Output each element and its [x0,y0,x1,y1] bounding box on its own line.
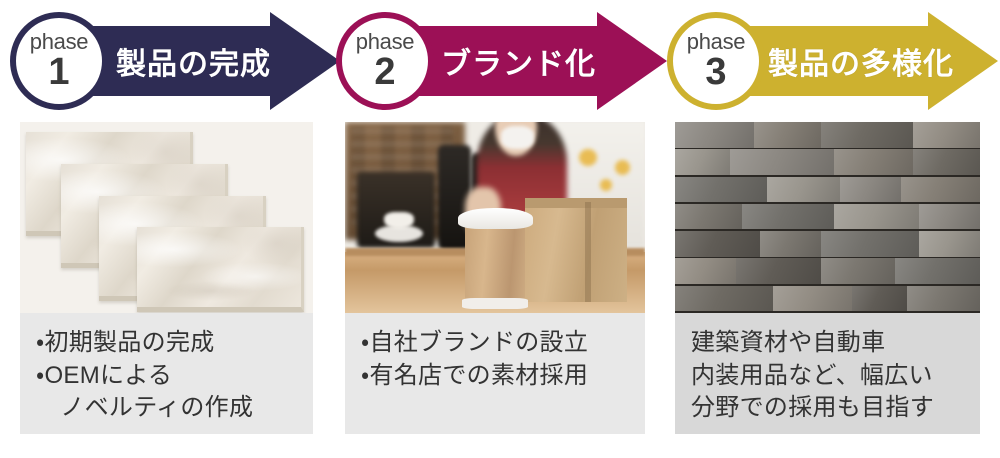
stone-wall-illustration [675,122,980,313]
phase-column-1: ・初期製品の完成 ・OEMによる ノベルティの作成 [20,122,313,434]
phase-circle-1[interactable]: phase 1 [10,12,108,110]
phase-circle-2-number: 2 [374,54,395,90]
phase-arrow-2-label: ブランド化 [441,12,596,110]
phase-arrow-1-label: 製品の完成 [116,12,271,110]
phase-arrow-band: 製品の完成 phase 1 ブランド化 phase 2 製品の多様化 phase… [0,0,1000,122]
phase-photo-2 [345,122,645,313]
phase-circle-2-word: phase [356,31,414,53]
phase-circle-2[interactable]: phase 2 [336,12,434,110]
panel-stack-illustration [20,122,313,313]
phase-photo-3 [675,122,980,313]
phase-circle-3-number: 3 [705,54,726,90]
phase-arrow-3-label: 製品の多様化 [768,12,954,110]
phase-content-columns: ・初期製品の完成 ・OEMによる ノベルティの作成 [0,122,1000,458]
cafe-counter-illustration [345,122,645,313]
phase-caption-2: ・自社ブランドの設立 ・有名店での素材採用 [345,313,645,434]
phase-circle-3[interactable]: phase 3 [667,12,765,110]
phase-circle-3-word: phase [687,31,745,53]
phase-column-3: 建築資材や自動車 内装用品など、幅広い 分野での採用も目指す [675,122,980,434]
phase-caption-3: 建築資材や自動車 内装用品など、幅広い 分野での採用も目指す [675,313,980,434]
phase-circle-1-number: 1 [48,54,69,90]
phase-circle-1-word: phase [30,31,88,53]
phase-photo-1 [20,122,313,313]
phase-caption-1: ・初期製品の完成 ・OEMによる ノベルティの作成 [20,313,313,434]
phase-column-2: ・自社ブランドの設立 ・有名店での素材採用 [345,122,645,434]
